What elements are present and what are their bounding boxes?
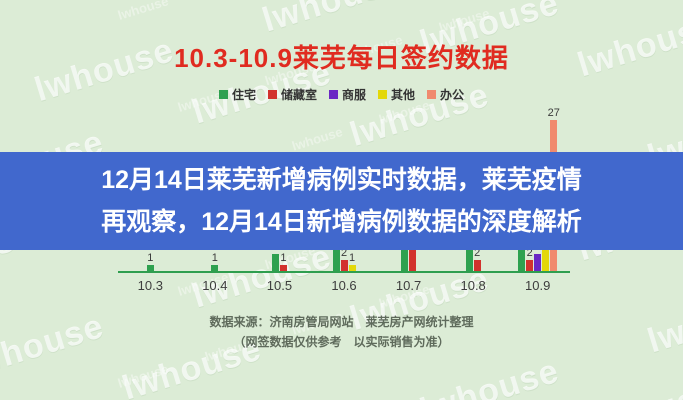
bar-group: 1 xyxy=(147,265,154,271)
legend-item-4[interactable]: 办公 xyxy=(427,86,464,103)
bar-储藏室[interactable]: 2 xyxy=(341,260,348,271)
x-tick-10.5: 10.5 xyxy=(267,278,292,293)
bar-group: 1 xyxy=(211,265,218,271)
headline-overlay: 12月14日莱芜新增病例实时数据，莱芜疫情 再观察，12月14日新增病例数据的深… xyxy=(0,152,683,250)
bar-group: 31 xyxy=(272,254,287,271)
footer-disclaimer-line: （网签数据仅供参考 以实际销售为准） xyxy=(0,332,683,352)
bar-储藏室[interactable]: 1 xyxy=(280,265,287,271)
bar-住宅[interactable]: 1 xyxy=(211,265,218,271)
bar-value-label: 1 xyxy=(349,253,355,264)
legend-swatch-icon xyxy=(268,90,277,99)
legend-swatch-icon xyxy=(329,90,338,99)
bar-value-label: 1 xyxy=(280,253,286,264)
legend-item-0[interactable]: 住宅 xyxy=(219,86,256,103)
legend-swatch-icon xyxy=(219,90,228,99)
headline-line-1: 12月14日莱芜新增病例实时数据，莱芜疫情 xyxy=(101,159,582,201)
x-tick-10.4: 10.4 xyxy=(202,278,227,293)
bar-其他[interactable]: 4 xyxy=(542,249,549,271)
legend-swatch-icon xyxy=(378,90,387,99)
chart-title: 10.3-10.9莱芜每日签约数据 xyxy=(0,38,683,75)
x-axis-line xyxy=(118,271,570,273)
headline-line-2: 再观察，12月14日新增病例数据的深度解析 xyxy=(101,201,582,243)
legend-label: 办公 xyxy=(440,86,464,103)
bar-储藏室[interactable]: 2 xyxy=(474,260,481,271)
legend-label: 商服 xyxy=(342,86,366,103)
bar-住宅[interactable]: 4 xyxy=(333,249,340,271)
bar-其他[interactable]: 1 xyxy=(349,265,356,271)
bar-商服[interactable]: 3 xyxy=(534,254,541,271)
bar-住宅[interactable]: 1 xyxy=(147,265,154,271)
legend-item-2[interactable]: 商服 xyxy=(329,86,366,103)
x-tick-10.6: 10.6 xyxy=(331,278,356,293)
legend-label: 住宅 xyxy=(232,86,256,103)
bar-储藏室[interactable]: 2 xyxy=(526,260,533,271)
chart-legend: 住宅储藏室商服其他办公 xyxy=(0,86,683,103)
bar-group: 421 xyxy=(333,249,356,271)
bar-value-label: 1 xyxy=(212,253,218,264)
bar-住宅[interactable]: 3 xyxy=(272,254,279,271)
legend-item-3[interactable]: 其他 xyxy=(378,86,415,103)
x-tick-10.9: 10.9 xyxy=(525,278,550,293)
chart-footer: 数据来源：济南房管局网站 莱芜房产网统计整理 （网签数据仅供参考 以实际销售为准… xyxy=(0,312,683,352)
bar-value-label: 27 xyxy=(548,108,560,119)
x-axis-tick-labels: 10.310.410.510.610.710.810.9 xyxy=(118,278,570,298)
x-tick-10.7: 10.7 xyxy=(396,278,421,293)
legend-item-1[interactable]: 储藏室 xyxy=(268,86,317,103)
legend-label: 储藏室 xyxy=(281,86,317,103)
legend-swatch-icon xyxy=(427,90,436,99)
legend-label: 其他 xyxy=(391,86,415,103)
footer-source-line: 数据来源：济南房管局网站 莱芜房产网统计整理 xyxy=(0,312,683,332)
bar-value-label: 1 xyxy=(147,253,153,264)
x-tick-10.3: 10.3 xyxy=(138,278,163,293)
x-tick-10.8: 10.8 xyxy=(460,278,485,293)
